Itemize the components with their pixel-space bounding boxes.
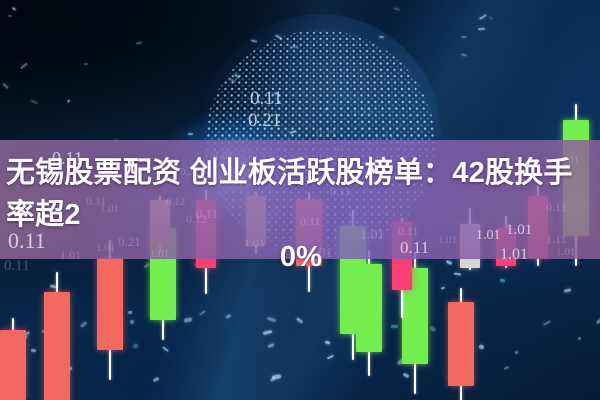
headline-text: 无锡股票配资 创业板活跃股榜单：42股换手率超2 0% bbox=[0, 152, 600, 278]
banner-image: 0.110.211.110.111.11 0.110.110.111.011.0… bbox=[0, 0, 600, 400]
headline-line-2: 0% bbox=[6, 236, 596, 278]
headline-line-1: 无锡股票配资 创业板活跃股榜单：42股换手率超2 bbox=[6, 157, 573, 231]
